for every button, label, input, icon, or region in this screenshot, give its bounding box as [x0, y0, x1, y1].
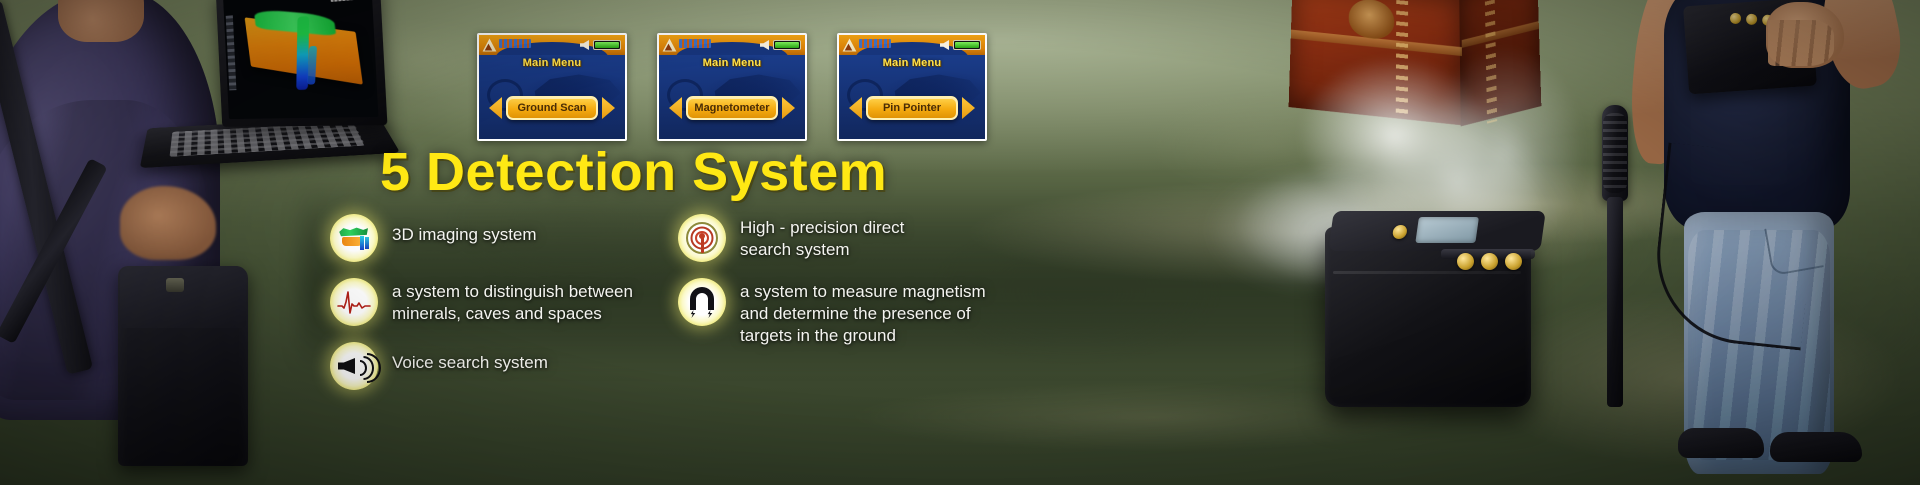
- promo-banner: Main Menu Ground Scan Main Menu: [0, 0, 1920, 485]
- vignette-overlay: [0, 0, 1920, 485]
